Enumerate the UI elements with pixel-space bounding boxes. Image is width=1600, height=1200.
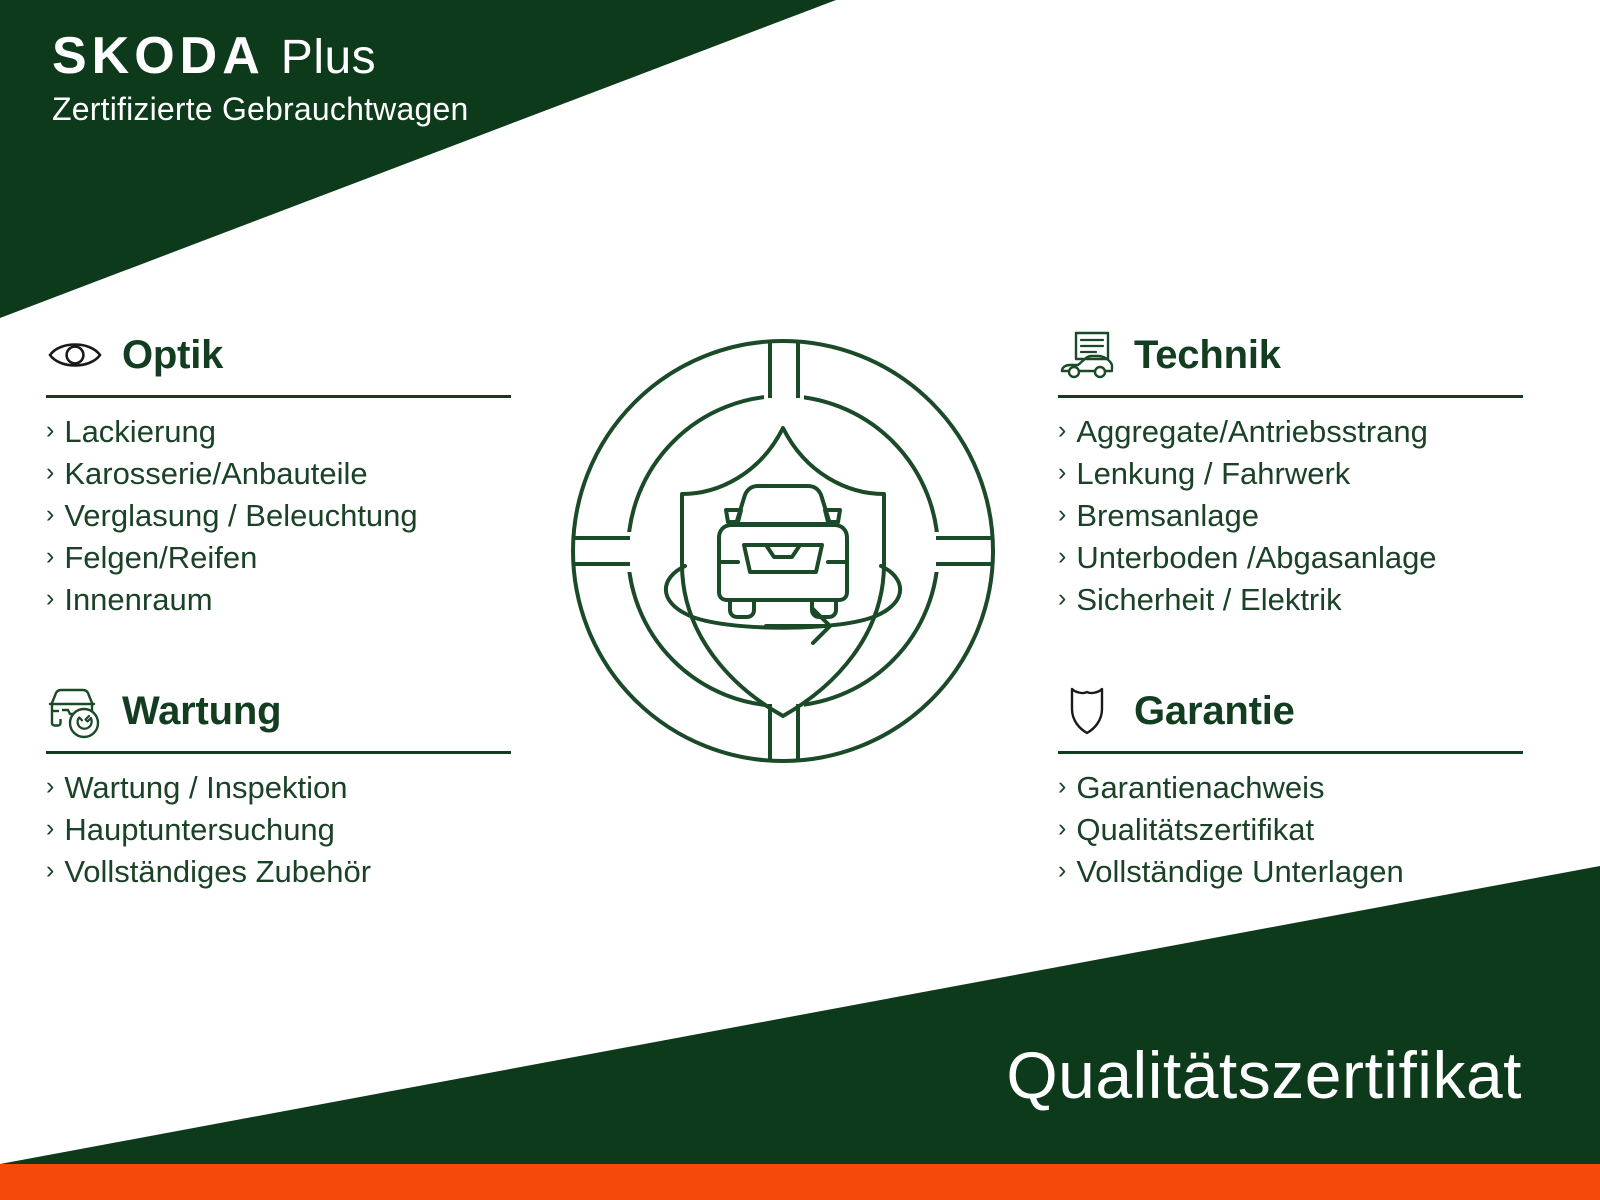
- list-item: ›Vollständiges Zubehör: [46, 852, 511, 891]
- list-item-label: Unterboden /Abgasanlage: [1076, 538, 1436, 577]
- list-item: ›Sicherheit / Elektrik: [1058, 580, 1523, 619]
- certified-vehicle-emblem: [548, 316, 1018, 786]
- plus-wordmark: Plus: [281, 34, 376, 82]
- chevron-right-icon: ›: [46, 852, 54, 890]
- section-technik-header: Technik: [1058, 325, 1523, 385]
- section-optik-header: Optik: [46, 325, 511, 385]
- list-item: ›Qualitätszertifikat: [1058, 810, 1523, 849]
- chevron-right-icon: ›: [1058, 538, 1066, 576]
- section-technik-title: Technik: [1134, 335, 1281, 375]
- section-optik: Optik ›Lackierung ›Karosserie/Anbauteile…: [46, 325, 511, 619]
- column-right: Technik ›Aggregate/Antriebsstrang ›Lenku…: [1058, 325, 1523, 894]
- section-wartung-list: ›Wartung / Inspektion ›Hauptuntersuchung…: [46, 768, 511, 891]
- list-item-label: Vollständige Unterlagen: [1076, 852, 1403, 891]
- list-item: ›Innenraum: [46, 580, 511, 619]
- list-item-label: Wartung / Inspektion: [64, 768, 347, 807]
- list-item-label: Bremsanlage: [1076, 496, 1259, 535]
- list-item: ›Lackierung: [46, 412, 511, 451]
- list-item-label: Vollständiges Zubehör: [64, 852, 371, 891]
- orange-stripe: [0, 1164, 1600, 1200]
- brand-title-row: SKODA Plus: [52, 30, 468, 82]
- list-item-label: Sicherheit / Elektrik: [1076, 580, 1341, 619]
- list-item-label: Verglasung / Beleuchtung: [64, 496, 417, 535]
- chevron-right-icon: ›: [1058, 580, 1066, 618]
- section-optik-title: Optik: [122, 335, 223, 375]
- section-garantie: Garantie ›Garantienachweis ›Qualitätszer…: [1058, 681, 1523, 891]
- chevron-right-icon: ›: [46, 810, 54, 848]
- section-garantie-header: Garantie: [1058, 681, 1523, 741]
- skoda-wordmark: SKODA: [52, 30, 265, 82]
- column-left: Optik ›Lackierung ›Karosserie/Anbauteile…: [46, 325, 511, 894]
- list-item-label: Aggregate/Antriebsstrang: [1076, 412, 1428, 451]
- chevron-right-icon: ›: [46, 768, 54, 806]
- chevron-right-icon: ›: [46, 454, 54, 492]
- list-item: ›Hauptuntersuchung: [46, 810, 511, 849]
- section-technik-list: ›Aggregate/Antriebsstrang ›Lenkung / Fah…: [1058, 412, 1523, 619]
- list-item: ›Garantienachweis: [1058, 768, 1523, 807]
- list-item: ›Felgen/Reifen: [46, 538, 511, 577]
- chevron-right-icon: ›: [1058, 454, 1066, 492]
- section-technik-divider: [1058, 395, 1523, 398]
- list-item: ›Wartung / Inspektion: [46, 768, 511, 807]
- section-wartung-title: Wartung: [122, 691, 281, 731]
- list-item-label: Garantienachweis: [1076, 768, 1324, 807]
- eye-icon: [46, 327, 104, 383]
- chevron-right-icon: ›: [46, 496, 54, 534]
- list-item-label: Hauptuntersuchung: [64, 810, 335, 849]
- car-document-icon: [1058, 327, 1116, 383]
- chevron-right-icon: ›: [1058, 768, 1066, 806]
- section-technik: Technik ›Aggregate/Antriebsstrang ›Lenku…: [1058, 325, 1523, 619]
- list-item: ›Lenkung / Fahrwerk: [1058, 454, 1523, 493]
- chevron-right-icon: ›: [1058, 810, 1066, 848]
- list-item-label: Felgen/Reifen: [64, 538, 257, 577]
- section-wartung: Wartung ›Wartung / Inspektion ›Hauptunte…: [46, 681, 511, 891]
- list-item: ›Aggregate/Antriebsstrang: [1058, 412, 1523, 451]
- list-item: ›Verglasung / Beleuchtung: [46, 496, 511, 535]
- chevron-right-icon: ›: [46, 580, 54, 618]
- brand-lockup: SKODA Plus Zertifizierte Gebrauchtwagen: [52, 30, 468, 127]
- section-garantie-title: Garantie: [1134, 691, 1295, 731]
- list-item: ›Vollständige Unterlagen: [1058, 852, 1523, 891]
- section-optik-list: ›Lackierung ›Karosserie/Anbauteile ›Verg…: [46, 412, 511, 619]
- chevron-right-icon: ›: [46, 538, 54, 576]
- chevron-right-icon: ›: [1058, 496, 1066, 534]
- list-item-label: Lenkung / Fahrwerk: [1076, 454, 1350, 493]
- footer-title: Qualitätszertifikat: [1006, 1042, 1522, 1108]
- list-item: ›Unterboden /Abgasanlage: [1058, 538, 1523, 577]
- list-item-label: Qualitätszertifikat: [1076, 810, 1314, 849]
- section-wartung-header: Wartung: [46, 681, 511, 741]
- chevron-right-icon: ›: [1058, 412, 1066, 450]
- footer-green-wedge: [0, 866, 1600, 1164]
- certificate-page: SKODA Plus Zertifizierte Gebrauchtwagen …: [0, 0, 1600, 1200]
- list-item-label: Innenraum: [64, 580, 212, 619]
- chevron-right-icon: ›: [46, 412, 54, 450]
- list-item-label: Lackierung: [64, 412, 216, 451]
- chevron-right-icon: ›: [1058, 852, 1066, 890]
- brand-tagline: Zertifizierte Gebrauchtwagen: [52, 92, 468, 127]
- car-wrench-icon: [46, 683, 104, 739]
- section-optik-divider: [46, 395, 511, 398]
- section-garantie-list: ›Garantienachweis ›Qualitätszertifikat ›…: [1058, 768, 1523, 891]
- list-item: ›Karosserie/Anbauteile: [46, 454, 511, 493]
- list-item: ›Bremsanlage: [1058, 496, 1523, 535]
- section-wartung-divider: [46, 751, 511, 754]
- shield-icon: [1058, 683, 1116, 739]
- section-garantie-divider: [1058, 751, 1523, 754]
- list-item-label: Karosserie/Anbauteile: [64, 454, 367, 493]
